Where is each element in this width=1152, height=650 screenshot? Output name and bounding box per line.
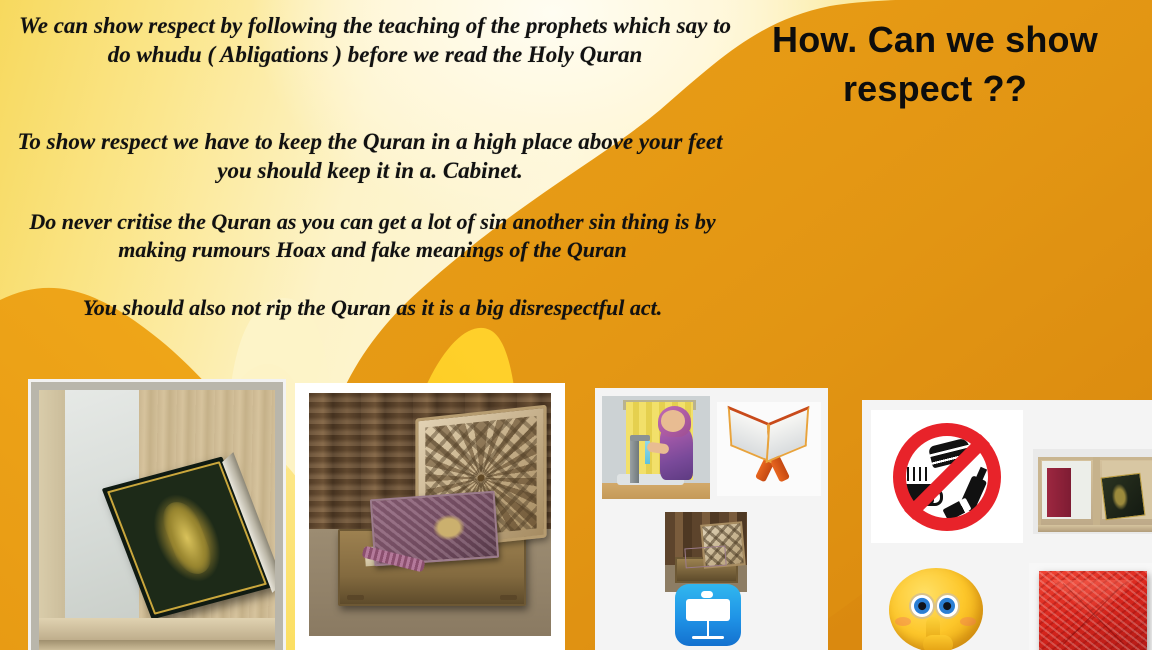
shelf-left-wall bbox=[39, 390, 65, 650]
thumbnail-quran bbox=[684, 546, 727, 568]
image-respect-practices-collage bbox=[595, 388, 828, 650]
quran-box-thumbnail bbox=[665, 512, 747, 592]
paragraph-high-place: To show respect we have to keep the Qura… bbox=[0, 128, 740, 186]
emoji-blush-left bbox=[895, 617, 911, 626]
emoji-pupil-right bbox=[944, 602, 952, 610]
cloth-flap-triangle bbox=[1052, 580, 1134, 623]
cloth-body bbox=[1039, 571, 1147, 650]
books-on-shelf bbox=[1033, 449, 1152, 534]
paragraph-wudu: We can show respect by following the tea… bbox=[10, 12, 740, 70]
dark-quran-book bbox=[1100, 472, 1145, 519]
red-quran-cover-cloth bbox=[1029, 563, 1152, 650]
paragraph-no-critise: Do never critise the Quran as you can ge… bbox=[0, 208, 745, 263]
emoji-hand bbox=[923, 635, 953, 650]
emoji-face bbox=[889, 568, 983, 650]
image-quran-on-wooden-shelf bbox=[31, 382, 283, 650]
emoji-eye-right bbox=[935, 593, 961, 619]
keynote-icon-tile bbox=[675, 584, 741, 646]
quran-rehal-stand bbox=[717, 402, 821, 496]
slide-canvas: How. Can we show respect ?? We can show … bbox=[0, 0, 1152, 650]
quran-box-photo bbox=[309, 393, 551, 636]
slide-title: How. Can we show respect ?? bbox=[735, 16, 1135, 113]
paragraph-no-ripping: You should also not rip the Quran as it … bbox=[0, 294, 745, 322]
emoji-iris-right bbox=[939, 598, 955, 614]
wudu-floor bbox=[602, 483, 710, 499]
emoji-eye-left bbox=[909, 593, 935, 619]
image-disrespect-rules-collage bbox=[862, 400, 1152, 650]
image-carved-quran-box bbox=[295, 383, 565, 650]
keynote-stand-foot bbox=[692, 636, 724, 639]
keynote-screen bbox=[686, 599, 731, 621]
keynote-stand-post bbox=[707, 620, 710, 637]
tap-post-icon bbox=[630, 437, 639, 482]
shelf-photo bbox=[39, 390, 275, 650]
quran-medallion-icon bbox=[157, 498, 217, 578]
keynote-app-icon bbox=[675, 584, 741, 646]
wudu-person-face bbox=[661, 410, 685, 432]
emoji-iris-left bbox=[914, 598, 930, 614]
shelf-ledge-shadow bbox=[39, 640, 275, 650]
box-foot-right bbox=[500, 595, 517, 599]
shelf2-divider bbox=[1093, 457, 1099, 525]
no-food-drink-smoking-sign bbox=[871, 410, 1023, 543]
keynote-pointer-knob bbox=[701, 591, 713, 597]
red-book bbox=[1047, 468, 1071, 517]
shelf-ledge bbox=[39, 618, 275, 640]
box-foot-left bbox=[347, 595, 364, 599]
emoji-pupil-left bbox=[918, 602, 926, 610]
wudu-illustration bbox=[602, 396, 710, 499]
emoji-blush-right bbox=[960, 617, 976, 626]
shushing-emoji bbox=[882, 562, 994, 650]
shelf2-base-ledge bbox=[1038, 525, 1152, 533]
open-quran-page-right bbox=[766, 406, 810, 463]
